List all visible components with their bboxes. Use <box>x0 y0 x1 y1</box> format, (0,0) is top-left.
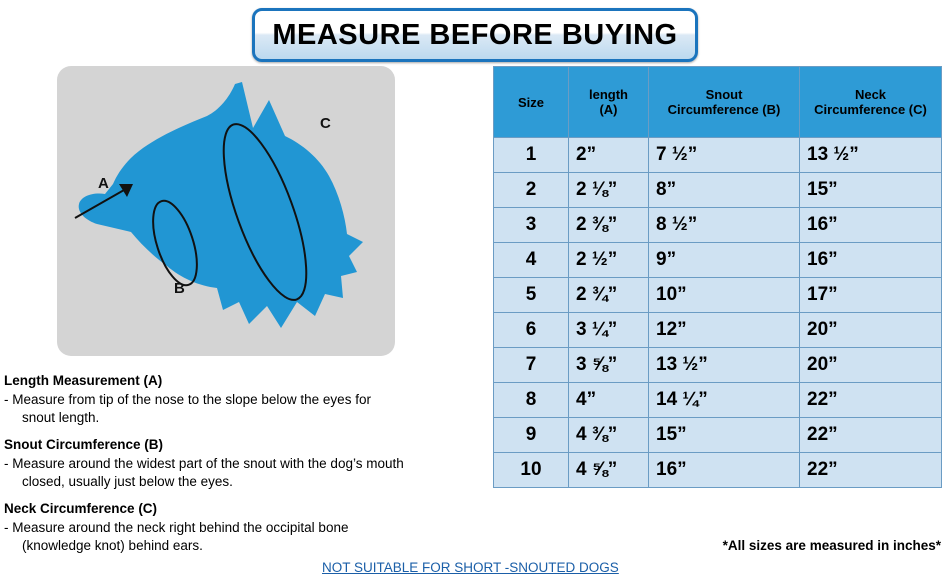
cell-length: 2” <box>569 138 649 173</box>
cell-size: 10 <box>494 453 569 488</box>
cell-length: 4” <box>569 383 649 418</box>
column-header-neck-line2: Circumference (C) <box>803 102 938 117</box>
legend-block-snout: Snout Circumference (B) - Measure around… <box>4 436 484 491</box>
cell-size: 6 <box>494 313 569 348</box>
cell-neck: 22” <box>800 418 942 453</box>
table-row: 12”7 ½”13 ½” <box>494 138 942 173</box>
cell-size: 2 <box>494 173 569 208</box>
table-row: 42 ½”9”16” <box>494 243 942 278</box>
cell-length: 4 ⅝” <box>569 453 649 488</box>
table-row: 104 ⅝”16”22” <box>494 453 942 488</box>
footnote-all-sizes: *All sizes are measured in inches* <box>723 538 941 553</box>
cell-snout: 12” <box>649 313 800 348</box>
column-header-length: length (A) <box>569 67 649 138</box>
column-header-neck: Neck Circumference (C) <box>800 67 942 138</box>
table-row: 63 ¼”12”20” <box>494 313 942 348</box>
cell-length: 2 ⅜” <box>569 208 649 243</box>
cell-snout: 15” <box>649 418 800 453</box>
column-header-neck-line1: Neck <box>803 87 938 102</box>
table-row: 94 ⅜”15”22” <box>494 418 942 453</box>
legend-line-1: - Measure around the widest part of the … <box>4 456 404 471</box>
cell-snout: 7 ½” <box>649 138 800 173</box>
cell-neck: 16” <box>800 243 942 278</box>
cell-length: 2 ½” <box>569 243 649 278</box>
legend-heading-length: Length Measurement (A) <box>4 372 484 389</box>
table-body: 12”7 ½”13 ½”22 ⅛”8”15”32 ⅜”8 ½”16”42 ½”9… <box>494 138 942 488</box>
cell-snout: 16” <box>649 453 800 488</box>
legend-line-2: (knowledge knot) behind ears. <box>4 537 484 555</box>
cell-size: 8 <box>494 383 569 418</box>
cell-snout: 8” <box>649 173 800 208</box>
cell-neck: 13 ½” <box>800 138 942 173</box>
cell-snout: 13 ½” <box>649 348 800 383</box>
cell-neck: 17” <box>800 278 942 313</box>
table-row: 84”14 ¼”22” <box>494 383 942 418</box>
cell-size: 4 <box>494 243 569 278</box>
diagram-label-c: C <box>320 115 331 132</box>
dog-diagram-panel: A B C <box>57 66 395 356</box>
title-banner: MEASURE BEFORE BUYING <box>252 8 698 62</box>
legend-body-neck: - Measure around the neck right behind t… <box>4 519 484 555</box>
legend-body-snout: - Measure around the widest part of the … <box>4 455 484 491</box>
cell-neck: 20” <box>800 348 942 383</box>
column-header-snout: Snout Circumference (B) <box>649 67 800 138</box>
cell-length: 3 ¼” <box>569 313 649 348</box>
footnote-warning-link[interactable]: NOT SUITABLE FOR SHORT -SNOUTED DOGS <box>322 560 619 575</box>
legend-line-1: - Measure from tip of the nose to the sl… <box>4 392 371 407</box>
cell-snout: 8 ½” <box>649 208 800 243</box>
diagram-label-b: B <box>174 280 185 297</box>
cell-neck: 16” <box>800 208 942 243</box>
legend-heading-neck: Neck Circumference (C) <box>4 500 484 517</box>
cell-size: 7 <box>494 348 569 383</box>
legend-block-length: Length Measurement (A) - Measure from ti… <box>4 372 484 427</box>
column-header-snout-line2: Circumference (B) <box>652 102 796 117</box>
cell-length: 3 ⅝” <box>569 348 649 383</box>
dog-head-illustration: A B C <box>57 66 395 356</box>
cell-snout: 14 ¼” <box>649 383 800 418</box>
legend-block-neck: Neck Circumference (C) - Measure around … <box>4 500 484 555</box>
size-chart-table: Size length (A) Snout Circumference (B) … <box>493 66 942 488</box>
cell-size: 1 <box>494 138 569 173</box>
cell-neck: 15” <box>800 173 942 208</box>
cell-neck: 22” <box>800 453 942 488</box>
cell-size: 3 <box>494 208 569 243</box>
cell-snout: 10” <box>649 278 800 313</box>
cell-size: 9 <box>494 418 569 453</box>
table-header-row: Size length (A) Snout Circumference (B) … <box>494 67 942 138</box>
cell-neck: 20” <box>800 313 942 348</box>
table-row: 32 ⅜”8 ½”16” <box>494 208 942 243</box>
cell-neck: 22” <box>800 383 942 418</box>
diagram-label-a: A <box>98 175 109 192</box>
column-header-size-line1: Size <box>497 95 565 110</box>
legend-line-2: snout length. <box>4 409 484 427</box>
cell-length: 2 ¾” <box>569 278 649 313</box>
column-header-size: Size <box>494 67 569 138</box>
cell-length: 2 ⅛” <box>569 173 649 208</box>
table-row: 73 ⅝”13 ½”20” <box>494 348 942 383</box>
legend-body-length: - Measure from tip of the nose to the sl… <box>4 391 484 427</box>
table-row: 22 ⅛”8”15” <box>494 173 942 208</box>
cell-snout: 9” <box>649 243 800 278</box>
column-header-snout-line1: Snout <box>652 87 796 102</box>
measurement-legend: Length Measurement (A) - Measure from ti… <box>4 372 484 564</box>
legend-heading-snout: Snout Circumference (B) <box>4 436 484 453</box>
legend-line-1: - Measure around the neck right behind t… <box>4 520 348 535</box>
legend-line-2: closed, usually just below the eyes. <box>4 473 484 491</box>
column-header-length-line2: (A) <box>572 102 645 117</box>
table-row: 52 ¾”10”17” <box>494 278 942 313</box>
column-header-length-line1: length <box>572 87 645 102</box>
cell-length: 4 ⅜” <box>569 418 649 453</box>
cell-size: 5 <box>494 278 569 313</box>
page-title: MEASURE BEFORE BUYING <box>272 19 677 52</box>
